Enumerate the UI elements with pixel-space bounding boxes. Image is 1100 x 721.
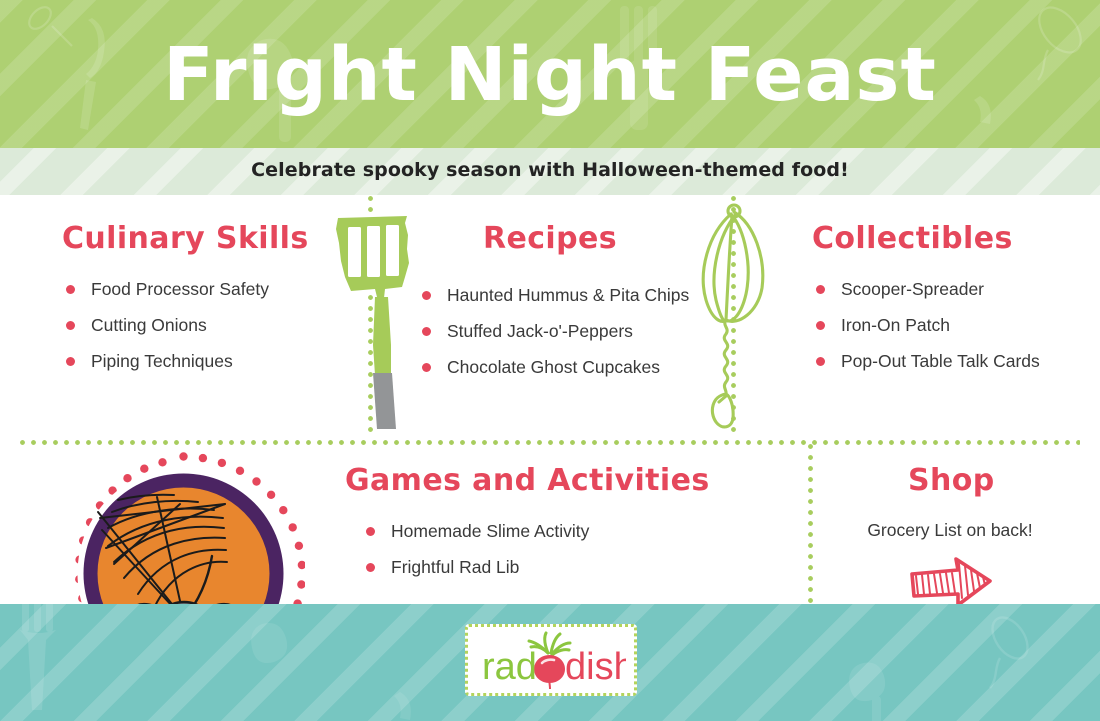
list-item: Pop-Out Table Talk Cards bbox=[812, 350, 1062, 373]
list-collectibles: Scooper-Spreader Iron-On Patch Pop-Out T… bbox=[812, 278, 1062, 386]
section-heading-culinary-skills: Culinary Skills bbox=[62, 221, 309, 256]
list-item: Iron-On Patch bbox=[812, 314, 1062, 337]
list-item: Piping Techniques bbox=[62, 350, 352, 373]
list-culinary-skills: Food Processor Safety Cutting Onions Pip… bbox=[62, 278, 352, 386]
list-item: Haunted Hummus & Pita Chips bbox=[418, 284, 718, 307]
divider-horizontal bbox=[20, 440, 1080, 445]
whisk-icon bbox=[690, 196, 790, 431]
section-heading-shop: Shop bbox=[908, 463, 995, 498]
section-heading-games-activities: Games and Activities bbox=[345, 463, 710, 498]
raddish-logo-mark: rad dish bbox=[476, 631, 626, 689]
logo-text-rad: rad bbox=[482, 646, 537, 688]
logo-text-dish: dish bbox=[565, 646, 626, 688]
brand-logo: rad dish bbox=[465, 624, 637, 696]
list-games-activities: Homemade Slime Activity Frightful Rad Li… bbox=[362, 520, 732, 592]
subtitle-band: Celebrate spooky season with Halloween-t… bbox=[0, 148, 1100, 195]
header-banner: Fright Night Feast bbox=[0, 0, 1100, 148]
spatula-icon bbox=[325, 205, 425, 430]
list-item: Food Processor Safety bbox=[62, 278, 352, 301]
sketch-arrow-right-icon bbox=[908, 556, 994, 608]
list-item: Stuffed Jack-o'-Peppers bbox=[418, 320, 718, 343]
list-recipes: Haunted Hummus & Pita Chips Stuffed Jack… bbox=[418, 284, 718, 392]
list-item: Cutting Onions bbox=[62, 314, 352, 337]
section-heading-collectibles: Collectibles bbox=[812, 221, 1013, 256]
section-heading-recipes: Recipes bbox=[483, 221, 617, 256]
list-item: Homemade Slime Activity bbox=[362, 520, 732, 543]
list-item: Frightful Rad Lib bbox=[362, 556, 732, 579]
page-title: Fright Night Feast bbox=[0, 38, 1100, 112]
shop-description: Grocery List on back! bbox=[810, 520, 1090, 541]
list-item: Scooper-Spreader bbox=[812, 278, 1062, 301]
page-subtitle: Celebrate spooky season with Halloween-t… bbox=[0, 159, 1100, 181]
list-item: Chocolate Ghost Cupcakes bbox=[418, 356, 718, 379]
poster-canvas: Fright Night Feast Celebrate spooky seas… bbox=[0, 0, 1100, 721]
